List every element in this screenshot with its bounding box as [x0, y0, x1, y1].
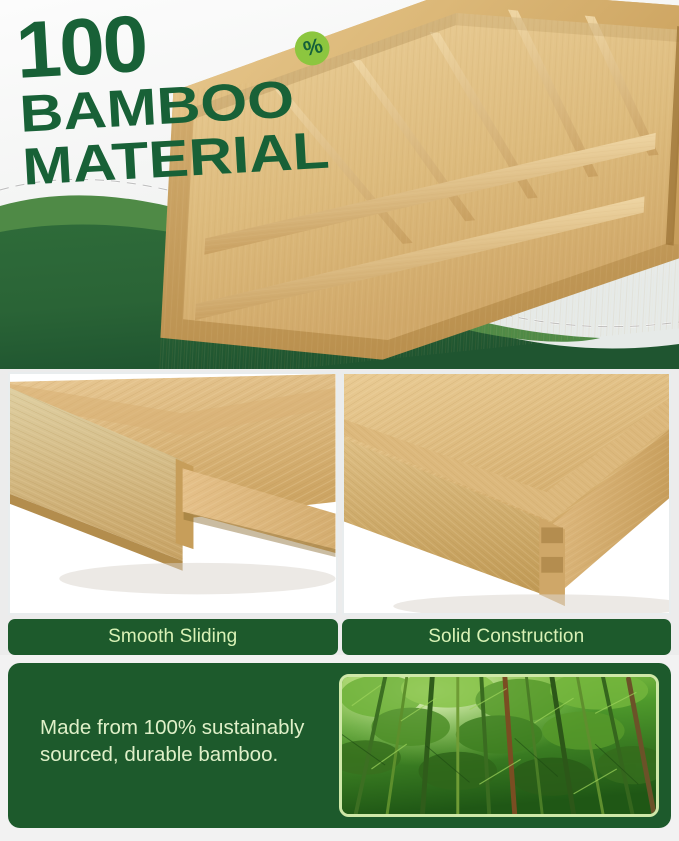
feature-panel-smooth-sliding: Smooth Sliding [8, 372, 338, 655]
feature-panels: Smooth Sliding [0, 369, 679, 655]
product-infographic: 100 % BAMBOO MATERIAL [0, 0, 679, 841]
sustainability-text: Made from 100% sustainably sourced, dura… [40, 715, 350, 768]
hero-section: 100 % BAMBOO MATERIAL [0, 0, 679, 369]
bamboo-forest-photo [339, 674, 659, 817]
caption-solid-construction: Solid Construction [342, 619, 672, 655]
sustainability-text-line1: Made from 100% sustainably [40, 715, 350, 742]
sustainability-text-line2: sourced, durable bamboo. [40, 742, 350, 769]
hero-headline: 100 % BAMBOO MATERIAL [14, 0, 288, 193]
feature-panel-solid-construction: Solid Construction [342, 372, 672, 655]
caption-smooth-sliding: Smooth Sliding [8, 619, 338, 655]
photo-solid-construction [342, 372, 672, 615]
sustainability-card: Made from 100% sustainably sourced, dura… [8, 663, 671, 828]
photo-smooth-sliding [8, 372, 338, 615]
